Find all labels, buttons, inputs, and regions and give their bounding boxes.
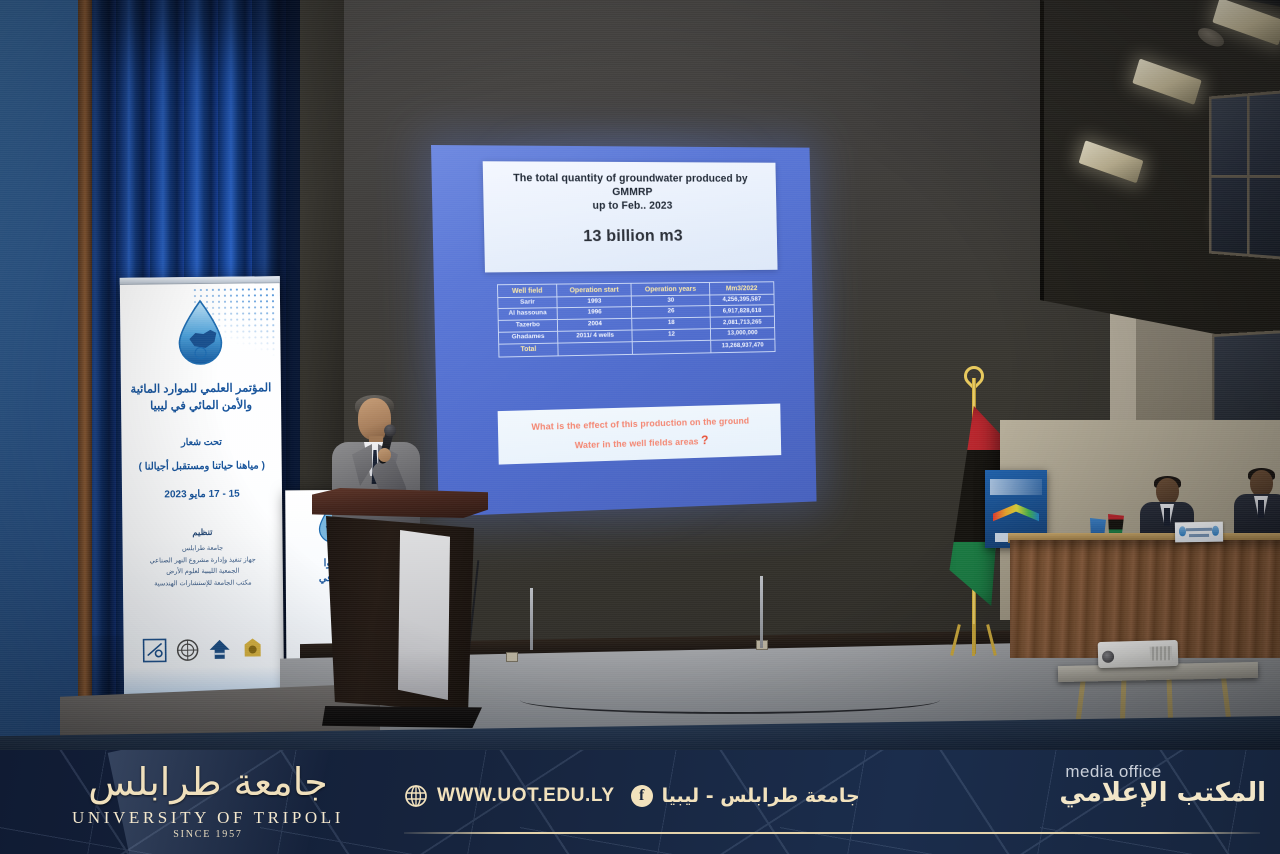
groundwater-table: Well field Operation start Operation yea…	[497, 281, 776, 357]
col-operation-years: Operation years	[631, 282, 709, 295]
slide-title-line1: The total quantity of groundwater produc…	[513, 172, 748, 198]
university-name-english: UNIVERSITY OF TRIPOLI	[58, 808, 358, 828]
panelist-person	[1234, 470, 1280, 540]
ceiling-light	[1079, 140, 1144, 183]
slide-title: The total quantity of groundwater produc…	[483, 161, 777, 213]
sponsor-logo-icon	[241, 636, 265, 662]
facebook-icon: f	[631, 785, 653, 807]
conference-photo-scene: The total quantity of groundwater produc…	[0, 0, 1280, 854]
footer-divider	[404, 832, 1260, 834]
panelist-head	[1250, 470, 1273, 497]
cell-empty	[633, 341, 711, 354]
globe-icon	[404, 784, 428, 808]
conference-rollup-banner: المؤتمر العلمي للموارد المائية والأمن ال…	[120, 276, 284, 708]
sponsor-logo-icon	[208, 637, 232, 663]
curtain-rod	[78, 0, 92, 770]
question-line2: Water in the well fields areas	[575, 436, 699, 450]
university-name-arabic: جامعة طرابلس	[58, 762, 358, 804]
question-line2-wrap: Water in the well fields areas ?	[575, 432, 709, 451]
ceiling-edge	[1040, 0, 1044, 301]
col-operation-start: Operation start	[556, 283, 631, 296]
cell-well-field: Sarir	[498, 296, 557, 309]
wall-socket	[506, 652, 518, 662]
banner-sponsor-logos	[124, 636, 284, 664]
university-since: SINCE 1957	[58, 829, 358, 840]
cell-well-field: Al hassouna	[498, 308, 557, 321]
university-logo: جامعة طرابلس UNIVERSITY OF TRIPOLI SINCE…	[58, 762, 358, 840]
panelist-tie	[1164, 508, 1170, 526]
cell-total-mm3: 13,268,937,470	[710, 339, 775, 352]
panelist-name-card	[1175, 522, 1223, 543]
facebook-item[interactable]: f جامعة طرابلس - ليبيا	[631, 785, 860, 807]
slide-headline: 13 billion m3	[484, 226, 777, 247]
slide-title-box: The total quantity of groundwater produc…	[483, 161, 778, 272]
name-card-text-line	[1189, 534, 1209, 537]
podium-base	[322, 706, 482, 728]
ceiling-vent	[1198, 25, 1224, 50]
banner-slogan: ( مياهنا حياتنا ومستقبل أجيالنا )	[126, 460, 278, 473]
cell-mm3: 4,256,395,587	[709, 294, 774, 306]
banner-slogan-label: تحت شعار	[127, 436, 275, 449]
cell-operation-start: 1993	[557, 296, 632, 309]
website-item[interactable]: WWW.UOT.EDU.LY	[404, 784, 615, 808]
banner-title-line1: المؤتمر العلمي للموارد المائية	[127, 380, 275, 399]
slide-title-line2: up to Feb.. 2023	[592, 200, 672, 212]
window-upper	[1209, 90, 1280, 260]
podium	[312, 488, 488, 732]
cell-total-label: Total	[499, 343, 558, 356]
website-url: WWW.UOT.EDU.LY	[437, 785, 615, 807]
sponsor-logo-icon	[175, 637, 199, 663]
projection-screen: The total quantity of groundwater produc…	[431, 145, 817, 517]
slide-question-box: What is the effect of this production on…	[498, 404, 782, 465]
projector-lens-icon	[1102, 651, 1114, 663]
flag-base	[954, 622, 994, 656]
sponsor-logo-icon	[142, 637, 166, 663]
footer-contact-row: WWW.UOT.EDU.LY f جامعة طرابلس - ليبيا	[404, 784, 860, 808]
projector-device	[1098, 640, 1179, 668]
question-mark: ?	[701, 432, 709, 447]
social-handle: جامعة طرابلس - ليبيا	[662, 785, 860, 807]
media-office-arabic: المكتب الإعلامي	[1059, 778, 1266, 808]
banner-organizer-label: تنظيم	[128, 526, 276, 539]
panelist-head	[1156, 478, 1179, 505]
name-card-drop-icon	[1212, 526, 1219, 536]
cell-well-field: Tazerbo	[498, 320, 557, 333]
podium-top	[312, 488, 488, 518]
media-office-block: media office المكتب الإعلامي	[1059, 762, 1266, 808]
poster-title-bar	[990, 479, 1042, 495]
organizer-item: جهاز تنفيذ وإدارة مشروع النهر الصناعي	[129, 554, 277, 567]
col-well-field: Well field	[497, 284, 556, 297]
question-line1: What is the effect of this production on…	[531, 415, 749, 431]
water-drop-logo-icon	[173, 299, 228, 368]
banner-title: المؤتمر العلمي للموارد المائية والأمن ال…	[127, 380, 275, 416]
poster-chevron-graphic	[993, 504, 1039, 528]
mic-stand	[760, 576, 763, 648]
banner-organizers: جامعة طرابلس جهاز تنفيذ وإدارة مشروع الن…	[129, 542, 277, 590]
footer-bar: جامعة طرابلس UNIVERSITY OF TRIPOLI SINCE…	[0, 750, 1280, 854]
banner-dates: 15 - 17 مايو 2023	[128, 488, 276, 501]
cell-empty	[558, 342, 633, 356]
cell-mm3: 6,917,828,618	[710, 305, 775, 317]
name-card-text-line	[1186, 528, 1212, 531]
ceiling-light	[1132, 58, 1201, 104]
podium-front-panel	[398, 530, 450, 700]
panelist-tie	[1258, 500, 1264, 518]
organizer-item: مكتب الجامعة للإستشارات الهندسية	[129, 577, 277, 590]
projector-vent	[1150, 646, 1172, 661]
speaker-hand	[378, 448, 391, 462]
mic-stand	[530, 588, 533, 650]
banner-top-rail	[120, 276, 284, 285]
slide-table-wrap: Well field Operation start Operation yea…	[497, 281, 776, 357]
banner-title-line2: والأمن المائي في ليبيا	[127, 397, 275, 416]
col-mm3-2022: Mm3/2022	[709, 282, 774, 295]
